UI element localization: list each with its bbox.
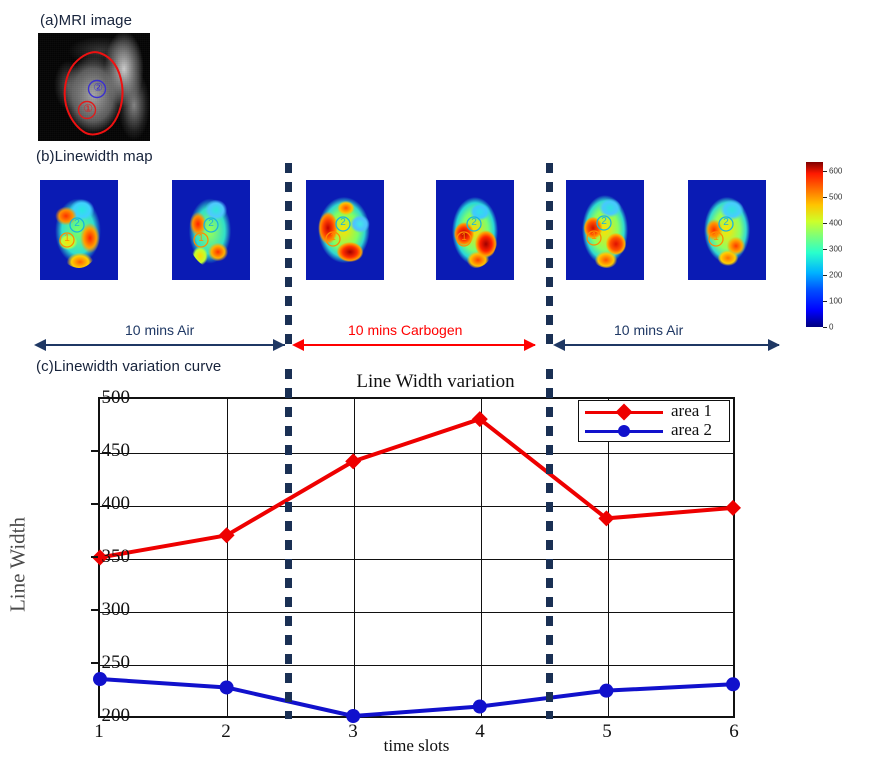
phase-arrow-line-3 bbox=[564, 344, 779, 346]
y-tick-label: 500 bbox=[102, 387, 131, 409]
phase-arrow-head-left-2 bbox=[292, 339, 304, 351]
legend-entry-area-1: area 1 bbox=[585, 403, 727, 421]
linewidth-map-2: 2 1 bbox=[172, 180, 250, 280]
colorbar-tick-label: 100 bbox=[829, 297, 842, 306]
mri-roi1-marker bbox=[38, 33, 150, 141]
map1-roi1-label: 1 bbox=[60, 233, 74, 244]
colorbar-tick-label: 200 bbox=[829, 271, 842, 280]
y-tick-label: 450 bbox=[102, 440, 131, 462]
phase-divider-1 bbox=[285, 163, 292, 348]
linewidth-map-4: 2 1 bbox=[436, 180, 514, 280]
map2-roi-markers bbox=[172, 180, 250, 280]
y-tick-label: 200 bbox=[102, 705, 131, 727]
colorbar: 0 100 200 300 400 500 600 bbox=[806, 162, 866, 327]
map1-roi-markers bbox=[40, 180, 118, 280]
y-tick-label: 400 bbox=[102, 493, 131, 515]
chart-phase-divider-1 bbox=[285, 369, 292, 719]
x-axis-title: time slots bbox=[98, 736, 735, 756]
phase-label-air-2: 10 mins Air bbox=[614, 322, 683, 338]
phase-arrow-head-right-2 bbox=[524, 339, 536, 351]
linewidth-map-5: 2 1 bbox=[566, 180, 644, 280]
chart-plot-area bbox=[98, 397, 735, 718]
legend-label-area-2: area 2 bbox=[671, 420, 712, 440]
y-tick-mark bbox=[91, 503, 98, 505]
phase-divider-2 bbox=[546, 163, 553, 348]
phase-arrow-head-left-3 bbox=[553, 339, 565, 351]
phase-arrow-head-left-1 bbox=[34, 339, 46, 351]
map3-roi-markers bbox=[306, 180, 384, 280]
y-tick-mark bbox=[91, 609, 98, 611]
y-tick-label: 300 bbox=[102, 599, 131, 621]
data-point-area-1-3 bbox=[345, 453, 361, 469]
legend-label-area-1: area 1 bbox=[671, 401, 712, 421]
map4-roi1-label: 1 bbox=[457, 232, 471, 243]
colorbar-tick-label: 400 bbox=[829, 219, 842, 228]
map3-roi1-label: 1 bbox=[326, 232, 340, 243]
phase-arrow-head-right-1 bbox=[273, 339, 285, 351]
phase-label-carbogen: 10 mins Carbogen bbox=[348, 322, 462, 338]
map6-roi1-label: 1 bbox=[709, 232, 723, 243]
map6-roi-markers bbox=[688, 180, 766, 280]
data-point-area-2-2 bbox=[220, 680, 234, 694]
y-tick-label: 350 bbox=[102, 546, 131, 568]
colorbar-tick bbox=[823, 171, 827, 172]
chart-legend: area 1 area 2 bbox=[578, 400, 730, 442]
map3-roi2-label: 2 bbox=[336, 217, 350, 228]
panel-a-caption: (a)MRI image bbox=[40, 12, 132, 29]
map5-roi-markers bbox=[566, 180, 644, 280]
colorbar-tick bbox=[823, 327, 827, 328]
y-axis-title: Line Width bbox=[6, 485, 31, 645]
colorbar-tick bbox=[823, 301, 827, 302]
data-point-area-2-4 bbox=[473, 699, 487, 713]
series-line-area-2 bbox=[100, 679, 733, 716]
map1-roi2-label: 2 bbox=[70, 218, 84, 229]
map6-roi2-label: 2 bbox=[719, 217, 733, 228]
map4-roi2-label: 2 bbox=[467, 217, 481, 228]
mri-roi1-label: ① bbox=[81, 102, 95, 115]
legend-marker-circle-icon bbox=[618, 425, 630, 437]
colorbar-gradient bbox=[806, 162, 823, 327]
phase-arrow-line-1 bbox=[45, 344, 285, 346]
y-tick-label: 250 bbox=[102, 652, 131, 674]
chart-series-layer bbox=[100, 399, 733, 716]
panel-b-caption: (b)Linewidth map bbox=[36, 148, 153, 165]
linewidth-map-6: 2 1 bbox=[688, 180, 766, 280]
series-markers-area-2 bbox=[93, 672, 740, 723]
data-point-area-1-6 bbox=[725, 500, 741, 516]
mri-image: ② ① bbox=[38, 33, 150, 141]
colorbar-tick-label: 0 bbox=[829, 323, 833, 332]
colorbar-tick bbox=[823, 223, 827, 224]
phase-arrow-head-right-3 bbox=[768, 339, 780, 351]
chart-phase-divider-2 bbox=[546, 369, 553, 719]
data-point-area-2-6 bbox=[726, 677, 740, 691]
map4-roi-markers bbox=[436, 180, 514, 280]
colorbar-tick-label: 500 bbox=[829, 193, 842, 202]
y-tick-mark bbox=[91, 662, 98, 664]
legend-marker-diamond-icon bbox=[616, 404, 633, 421]
legend-entry-area-2: area 2 bbox=[585, 422, 727, 440]
linewidth-map-1: 2 1 bbox=[40, 180, 118, 280]
data-point-area-1-2 bbox=[219, 527, 235, 543]
y-tick-mark bbox=[91, 556, 98, 558]
data-point-area-2-1 bbox=[93, 672, 107, 686]
linewidth-map-3: 2 1 bbox=[306, 180, 384, 280]
map5-roi2-label: 2 bbox=[597, 216, 611, 227]
chart-title: Line Width variation bbox=[0, 371, 871, 393]
colorbar-tick-label: 300 bbox=[829, 245, 842, 254]
map2-roi2-label: 2 bbox=[204, 218, 218, 229]
colorbar-tick bbox=[823, 275, 827, 276]
colorbar-tick-label: 600 bbox=[829, 167, 842, 176]
map5-roi1-label: 1 bbox=[587, 231, 601, 242]
phase-arrow-line-2 bbox=[303, 344, 535, 346]
colorbar-tick bbox=[823, 197, 827, 198]
data-point-area-2-5 bbox=[599, 684, 613, 698]
y-tick-mark bbox=[91, 450, 98, 452]
map2-roi1-label: 1 bbox=[194, 233, 208, 244]
phase-label-air-1: 10 mins Air bbox=[125, 322, 194, 338]
colorbar-tick bbox=[823, 249, 827, 250]
